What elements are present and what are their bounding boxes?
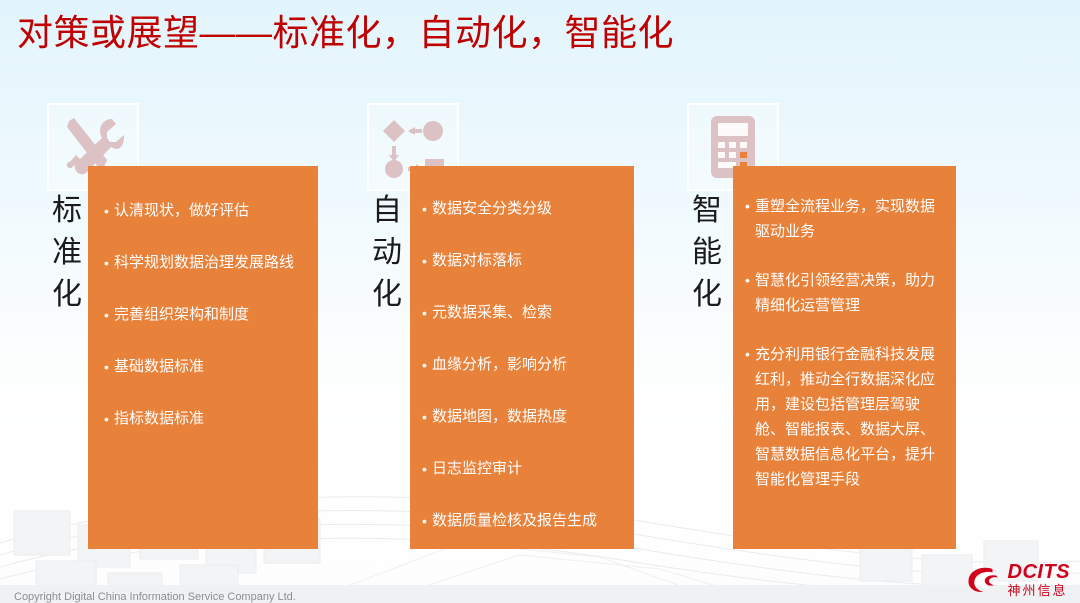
column-label-standardization: 标 准 化 — [46, 190, 88, 316]
column-label-automation: 自 动 化 — [366, 190, 408, 316]
list-item: 数据地图，数据热度 — [422, 404, 624, 430]
list-item: 数据安全分类分级 — [422, 196, 624, 222]
content-box-standardization: 认清现状，做好评估 科学规划数据治理发展路线 完善组织架构和制度 基础数据标准 … — [88, 166, 318, 549]
slide-canvas: 对策或展望——标准化，自动化，智能化 标 准 化 认清现状，做好评估 — [0, 0, 1080, 603]
label-char: 动 — [366, 232, 408, 274]
list-item: 基础数据标准 — [104, 354, 304, 380]
label-char: 准 — [46, 232, 88, 274]
bullet-list-standardization: 认清现状，做好评估 科学规划数据治理发展路线 完善组织架构和制度 基础数据标准 … — [104, 198, 304, 432]
list-item: 重塑全流程业务，实现数据驱动业务 — [745, 194, 946, 244]
label-char: 智 — [686, 190, 728, 232]
list-item: 充分利用银行金融科技发展红利，推动全行数据深化应用，建设包括管理层驾驶舱、智能报… — [745, 342, 946, 492]
content-box-intelligence: 重塑全流程业务，实现数据驱动业务 智慧化引领经营决策，助力精细化运营管理 充分利… — [733, 166, 956, 549]
list-item: 数据对标落标 — [422, 248, 624, 274]
list-item: 科学规划数据治理发展路线 — [104, 250, 304, 276]
list-item: 完善组织架构和制度 — [104, 302, 304, 328]
label-char: 标 — [46, 190, 88, 232]
logo-cn-text: 神州信息 — [1008, 584, 1071, 597]
list-item: 元数据采集、检索 — [422, 300, 624, 326]
list-item: 血缘分析，影响分析 — [422, 352, 624, 378]
list-item: 数据质量检核及报告生成 — [422, 508, 624, 534]
label-char: 化 — [686, 274, 728, 316]
column-label-intelligence: 智 能 化 — [686, 190, 728, 316]
label-char: 能 — [686, 232, 728, 274]
bullet-list-intelligence: 重塑全流程业务，实现数据驱动业务 智慧化引领经营决策，助力精细化运营管理 充分利… — [745, 194, 946, 492]
copyright-text: Copyright Digital China Information Serv… — [14, 590, 296, 603]
list-item: 智慧化引领经营决策，助力精细化运营管理 — [745, 268, 946, 318]
label-char: 化 — [366, 274, 408, 316]
bullet-list-automation: 数据安全分类分级 数据对标落标 元数据采集、检索 血缘分析，影响分析 数据地图，… — [422, 196, 624, 534]
dcits-logo: DCITS 神州信息 — [967, 562, 1071, 597]
logo-text: DCITS 神州信息 — [1008, 562, 1071, 597]
list-item: 日志监控审计 — [422, 456, 624, 482]
label-char: 自 — [366, 190, 408, 232]
list-item: 指标数据标准 — [104, 406, 304, 432]
label-char: 化 — [46, 274, 88, 316]
logo-mark-icon — [967, 565, 1001, 595]
list-item: 认清现状，做好评估 — [104, 198, 304, 224]
slide-title: 对策或展望——标准化，自动化，智能化 — [17, 10, 674, 56]
content-box-automation: 数据安全分类分级 数据对标落标 元数据采集、检索 血缘分析，影响分析 数据地图，… — [410, 166, 634, 549]
logo-en-text: DCITS — [1008, 562, 1071, 582]
